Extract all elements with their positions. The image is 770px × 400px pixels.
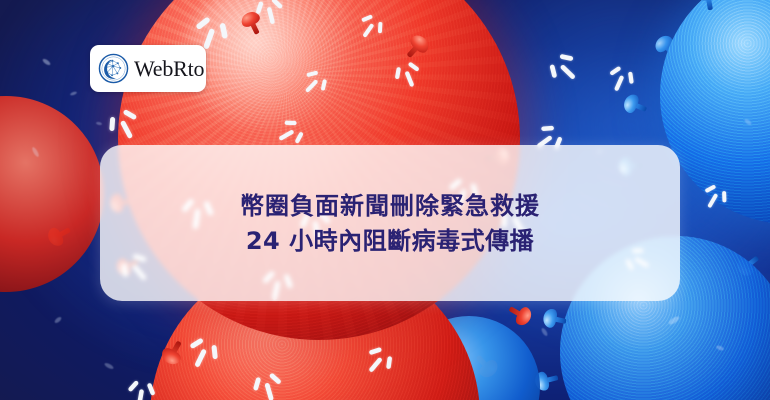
headline-line-1: 幣圈負面新聞刪除緊急救援 bbox=[240, 191, 540, 221]
headline-line-2: 24 小時內阻斷病毒式傳播 bbox=[246, 226, 534, 256]
antibody-icon bbox=[125, 375, 157, 400]
banner-image: 幣圈負面新聞刪除緊急救援 24 小時內阻斷病毒式傳播 bbox=[0, 0, 770, 400]
logo-badge[interactable]: WebRto bbox=[90, 45, 206, 92]
headline-band: 幣圈負面新聞刪除緊急救援 24 小時內阻斷病毒式傳播 bbox=[100, 145, 680, 301]
globe-network-emblem-icon bbox=[98, 53, 129, 84]
logo-wordmark: WebRto bbox=[134, 58, 204, 80]
